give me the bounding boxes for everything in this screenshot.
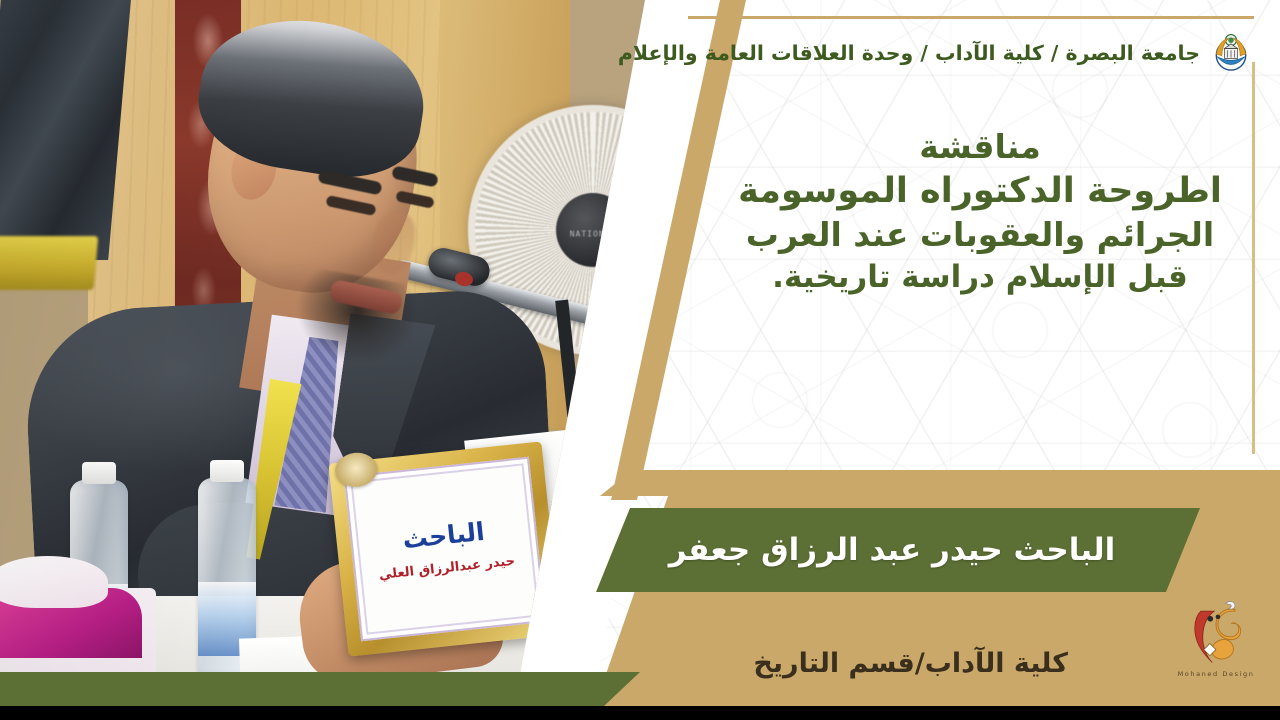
- announcement-banner: NATIONAL: [0, 0, 1280, 720]
- title-line-1: مناقشة: [700, 126, 1260, 169]
- designer-credit: Mohaned Design: [1168, 596, 1264, 696]
- defense-photograph: NATIONAL: [0, 0, 700, 700]
- nameplate-title: الباحث: [401, 519, 485, 552]
- green-accent-slice: [0, 672, 640, 706]
- desk-nameplate: الباحث حيدر عبدالرزاق العلي: [328, 441, 561, 656]
- page-header: جامعة البصرة / كلية الآداب / وحدة العلاق…: [688, 8, 1268, 70]
- fan-brand-label: NATIONAL: [570, 230, 617, 239]
- fan-stand: [585, 330, 631, 480]
- nameplate-inner: الباحث حيدر عبدالرزاق العلي: [344, 457, 546, 642]
- announcement-title: مناقشة اطروحة الدكتوراه الموسومة الجرائم…: [700, 126, 1260, 298]
- researcher-name-band: الباحث حيدر عبد الرزاق جعفر: [596, 508, 1200, 592]
- header-institution-line: جامعة البصرة / كلية الآداب / وحدة العلاق…: [618, 41, 1200, 65]
- bottom-letterbox: [0, 706, 1280, 720]
- designer-caption: Mohaned Design: [1168, 670, 1264, 678]
- university-emblem-icon: [1208, 30, 1254, 76]
- photo-scene: NATIONAL: [0, 0, 700, 700]
- researcher-name-text: الباحث حيدر عبد الرزاق جعفر: [669, 532, 1116, 568]
- title-line-4: قبل الإسلام دراسة تاريخية.: [700, 257, 1260, 297]
- header-row: جامعة البصرة / كلية الآداب / وحدة العلاق…: [688, 30, 1254, 76]
- header-divider: [688, 16, 1254, 19]
- nameplate-name: حيدر عبدالرزاق العلي: [378, 555, 515, 582]
- department-band: كلية الآداب/قسم التاريخ: [556, 630, 1116, 696]
- fan-hub: NATIONAL: [556, 193, 630, 267]
- department-text: كلية الآداب/قسم التاريخ: [753, 648, 1068, 679]
- title-line-2: اطروحة الدكتوراه الموسومة: [700, 169, 1260, 215]
- designer-calligraphy-icon: [1168, 596, 1264, 670]
- tissue-puff: [0, 556, 108, 608]
- title-line-3: الجرائم والعقوبات عند العرب: [700, 214, 1260, 257]
